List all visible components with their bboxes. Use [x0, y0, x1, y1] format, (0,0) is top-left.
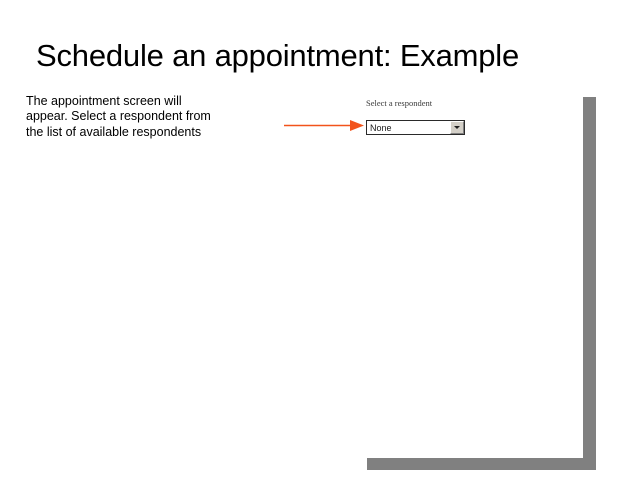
presentation-slide: Schedule an appointment: Example The app…: [0, 0, 640, 480]
screenshot-shadow-bottom: [367, 458, 583, 470]
slide-body-text: The appointment screen will appear. Sele…: [26, 94, 258, 140]
caret-glyph: [454, 126, 460, 129]
body-line: the list of available respondents: [26, 125, 258, 140]
chevron-down-icon[interactable]: [450, 121, 464, 134]
screenshot-shadow-right: [583, 97, 596, 470]
respondent-dropdown[interactable]: None: [366, 120, 465, 135]
body-line: The appointment screen will: [26, 94, 258, 109]
respondent-field-label: Select a respondent: [366, 98, 432, 108]
page-title: Schedule an appointment: Example: [36, 38, 608, 74]
respondent-selected-value: None: [367, 121, 450, 134]
body-line: appear. Select a respondent from: [26, 109, 258, 124]
callout-arrow-icon: [284, 118, 368, 133]
embedded-app-screenshot: Select a respondent None: [360, 94, 583, 458]
